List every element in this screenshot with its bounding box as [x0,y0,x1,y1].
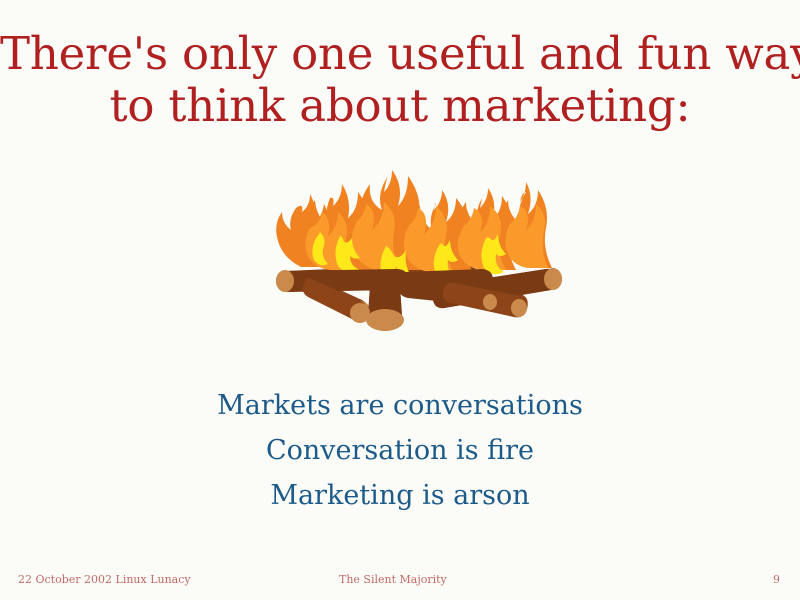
body-line-3: Marketing is arson [0,473,800,518]
footer-date-event: 22 October 2002 Linux Lunacy [18,572,191,588]
slide-title: There's only one useful and fun way to t… [0,28,800,132]
title-line-2: to think about marketing: [0,80,800,132]
body-line-2: Conversation is fire [0,428,800,473]
footer-presentation-title: The Silent Majority [339,572,447,588]
slide-body: Markets are conversations Conversation i… [0,383,800,518]
bonfire-icon [258,168,568,353]
title-line-1: There's only one useful and fun way [0,28,800,80]
logs-foreground-group [276,268,562,331]
slide: There's only one useful and fun way to t… [0,0,800,600]
slide-footer: 22 October 2002 Linux Lunacy The Silent … [0,572,800,588]
body-line-1: Markets are conversations [0,383,800,428]
footer-page-number: 9 [773,572,780,588]
